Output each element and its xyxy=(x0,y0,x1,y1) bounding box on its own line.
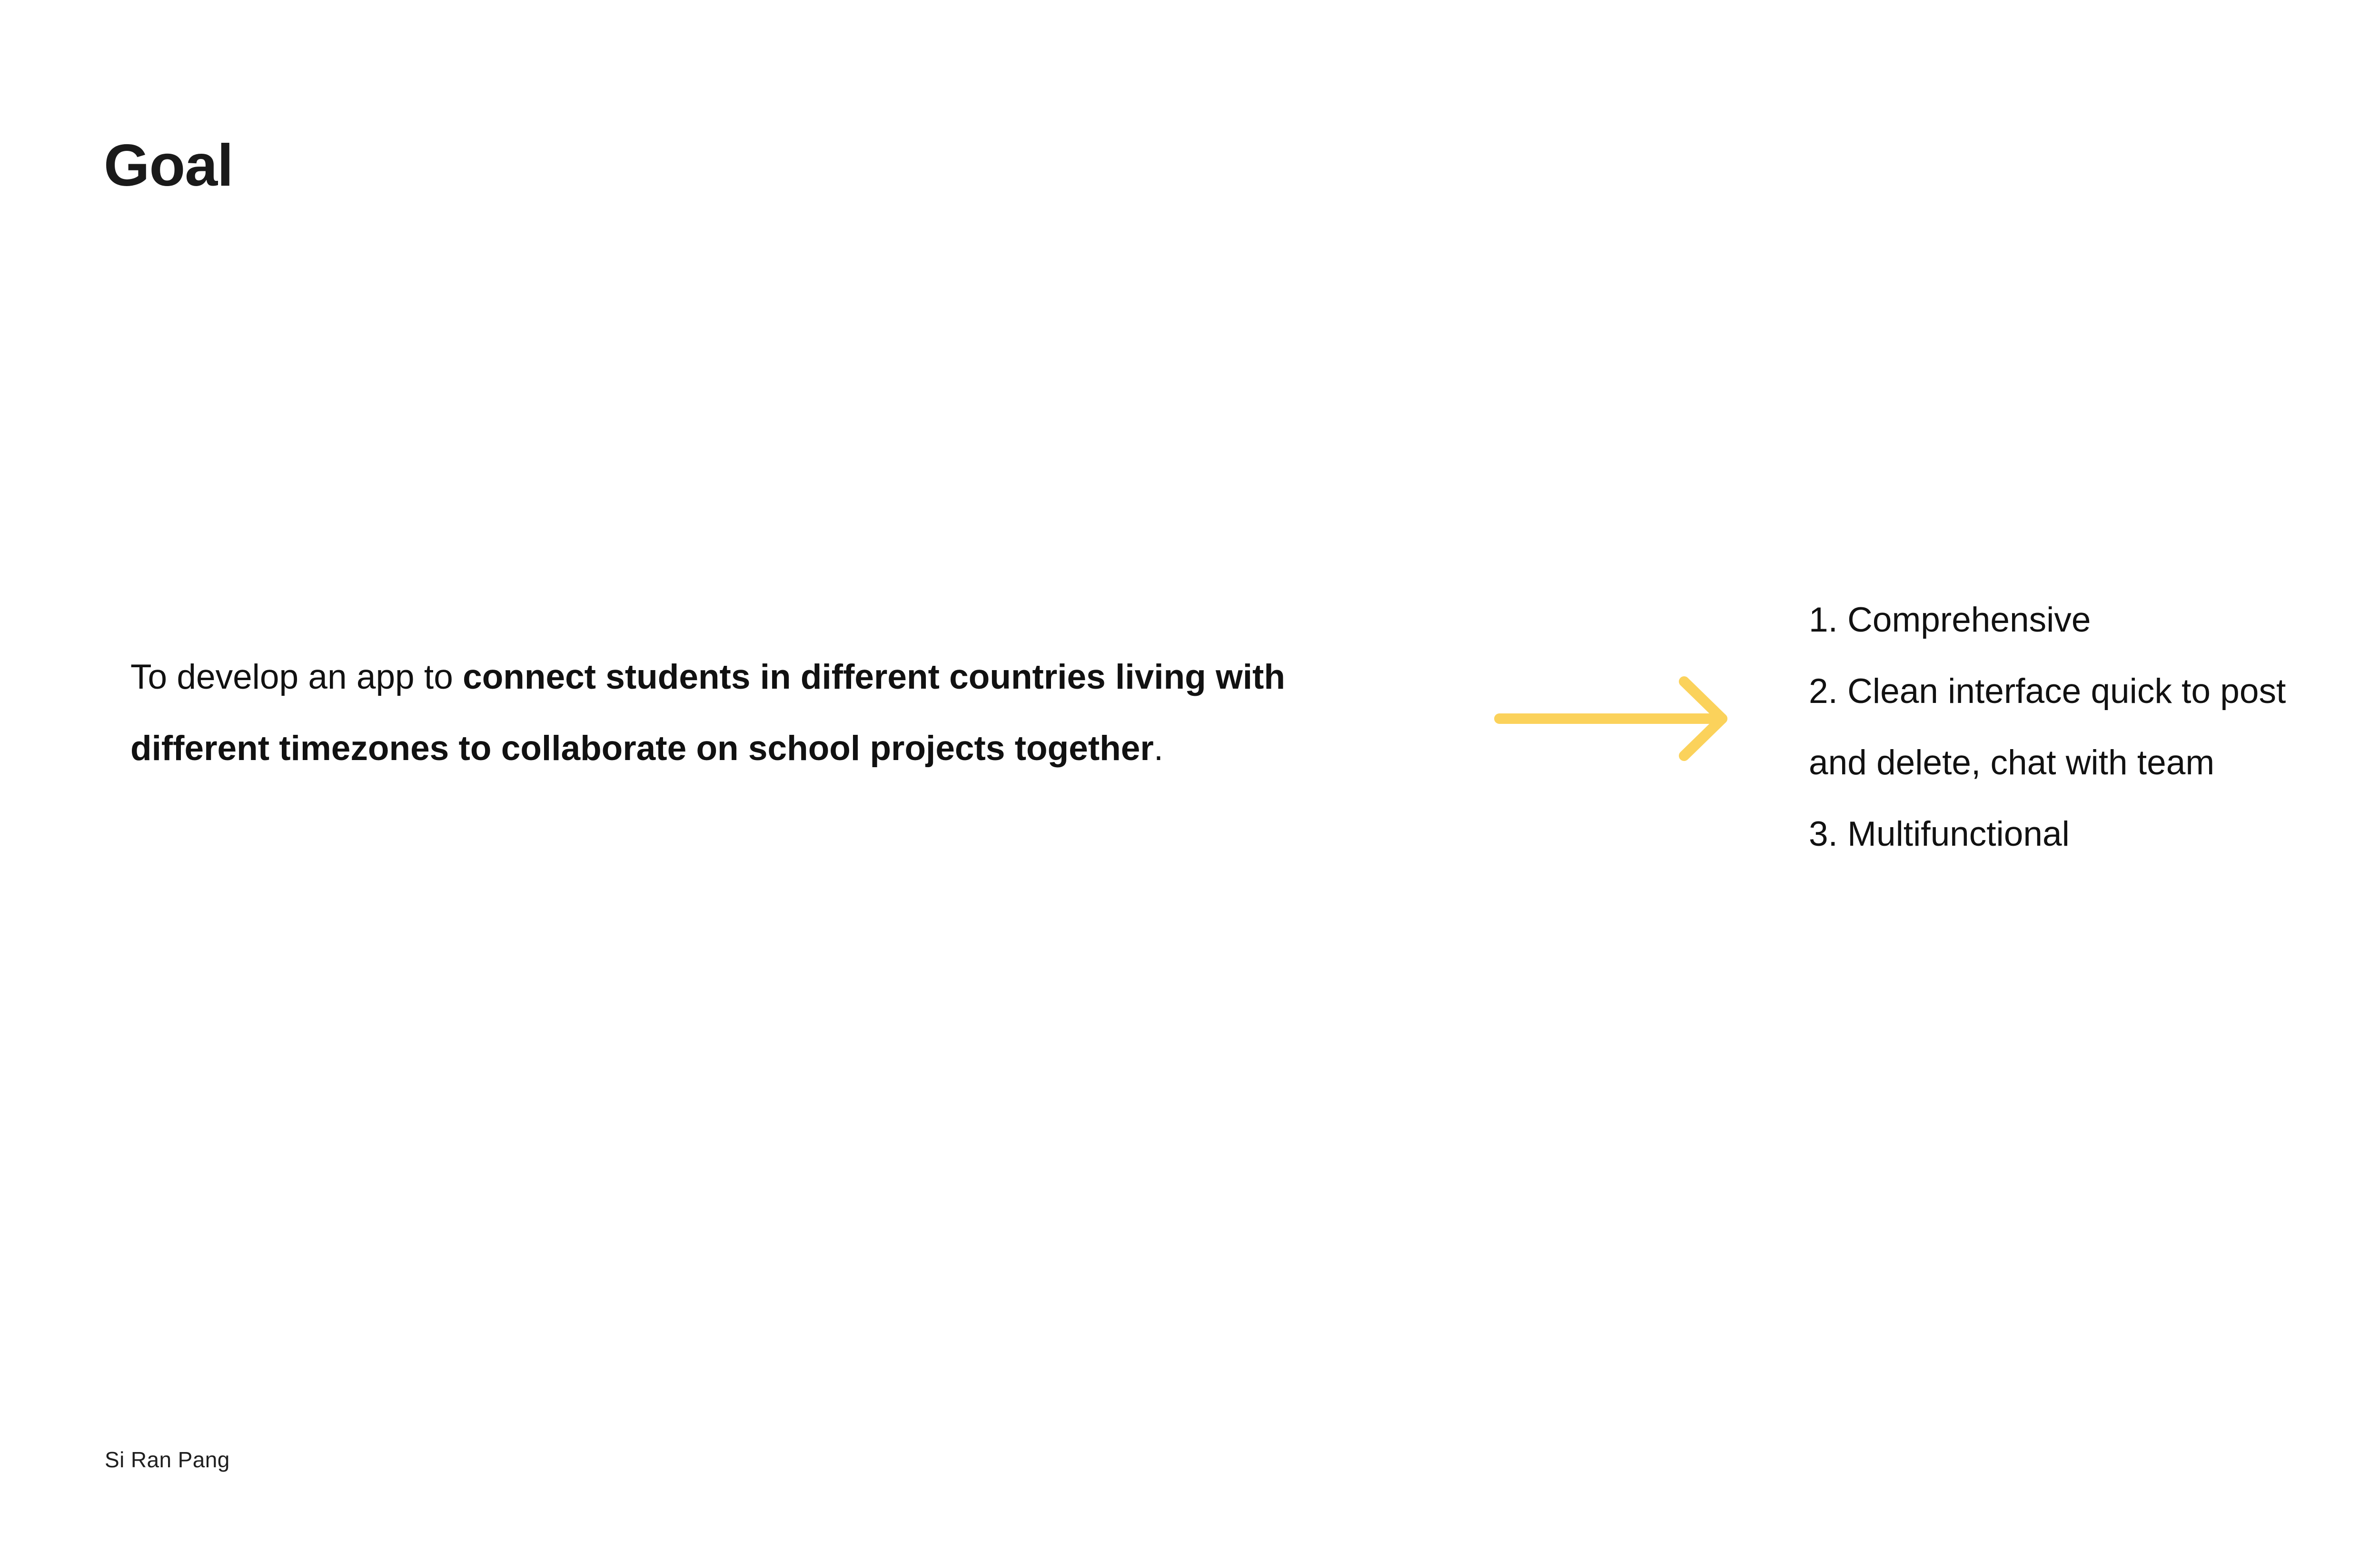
arrow-right-glyph xyxy=(1495,672,1733,765)
list-item: and delete, chat with team xyxy=(1809,727,2380,799)
statement-lead-text: To develop an app to xyxy=(130,658,463,696)
statement-trailing-text: . xyxy=(1154,729,1163,768)
slide-canvas: Goal To develop an app to connect studen… xyxy=(0,0,2380,1542)
footer-author: Si Ran Pang xyxy=(105,1447,230,1473)
outcome-list: 1. Comprehensive 2. Clean interface quic… xyxy=(1809,584,2380,870)
arrow-right-icon xyxy=(1495,672,1733,765)
list-item: 1. Comprehensive xyxy=(1809,584,2380,656)
list-item: 2. Clean interface quick to post xyxy=(1809,656,2380,727)
page-title: Goal xyxy=(104,133,233,199)
list-item: 3. Multifunctional xyxy=(1809,799,2380,870)
goal-statement: To develop an app to connect students in… xyxy=(130,642,1416,784)
